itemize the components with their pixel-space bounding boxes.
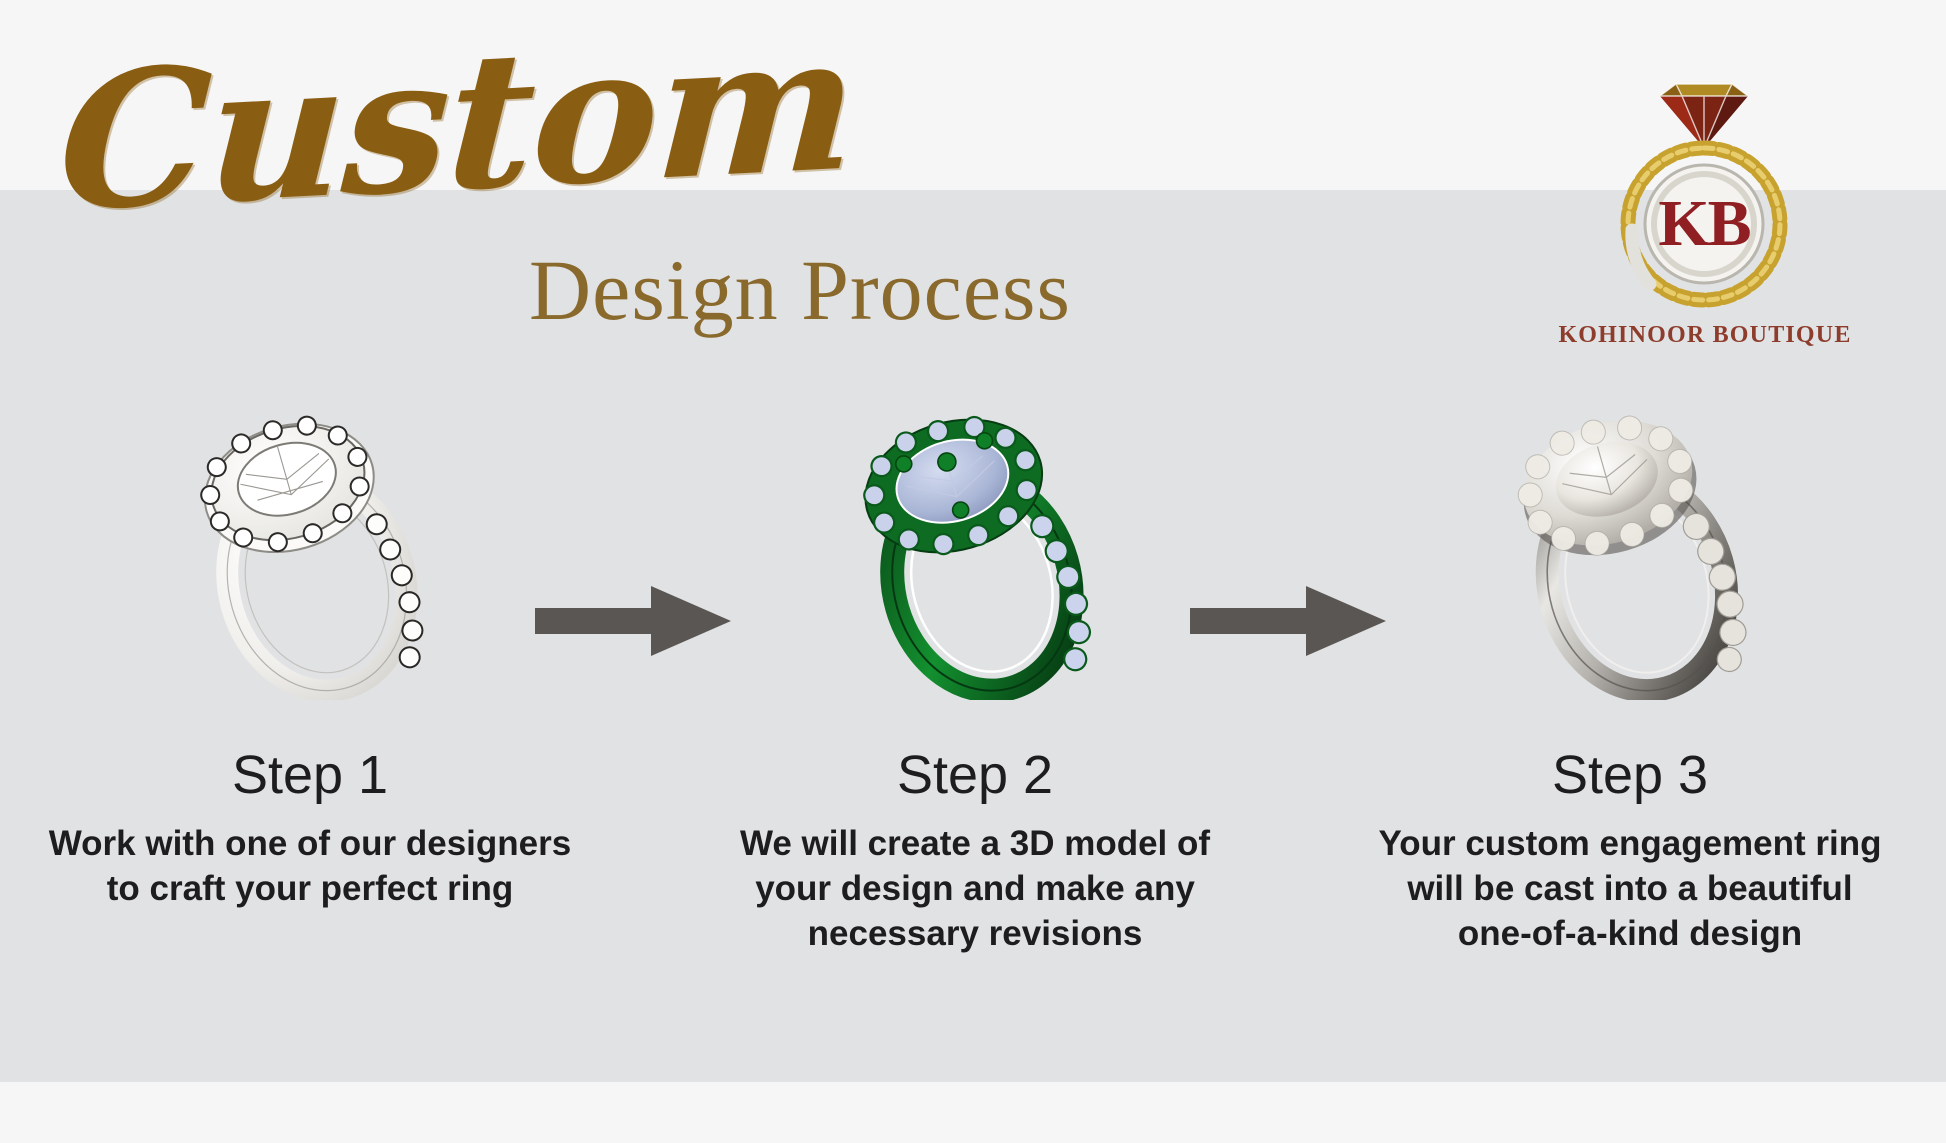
step-card-1: Step 1 Work with one of our designers to… xyxy=(10,400,610,1060)
custom-design-process-infographic: Custom Design Process xyxy=(0,0,1946,1143)
ring-photo-platinum-icon xyxy=(1480,400,1780,700)
page-title-script: Custom xyxy=(53,0,970,274)
brand-logo[interactable]: KB KOHINOOR BOUTIQUE xyxy=(1590,78,1870,368)
logo-initials: KB xyxy=(1614,134,1794,314)
step-3-image xyxy=(1330,400,1930,700)
page-subtitle: Design Process xyxy=(0,240,1600,340)
ring-sketch-white-icon xyxy=(160,400,460,700)
step-1-image xyxy=(10,400,610,700)
step-3-description: Your custom engagement ring will be cast… xyxy=(1330,822,1930,956)
step-1-description: Work with one of our designers to craft … xyxy=(10,822,610,912)
logo-caption: KOHINOOR BOUTIQUE xyxy=(1540,322,1870,349)
step-2-image xyxy=(675,400,1275,700)
step-2-description: We will create a 3D model of your design… xyxy=(675,822,1275,956)
step-card-3: Step 3 Your custom engagement ring will … xyxy=(1330,400,1930,1060)
step-card-2: Step 2 We will create a 3D model of your… xyxy=(675,400,1275,1060)
step-2-title: Step 2 xyxy=(675,744,1275,806)
step-3-title: Step 3 xyxy=(1330,744,1930,806)
background-band-bottom xyxy=(0,1082,1946,1143)
step-1-title: Step 1 xyxy=(10,744,610,806)
ring-cad-green-icon xyxy=(825,400,1125,700)
steps-row: Step 1 Work with one of our designers to… xyxy=(0,400,1946,1060)
